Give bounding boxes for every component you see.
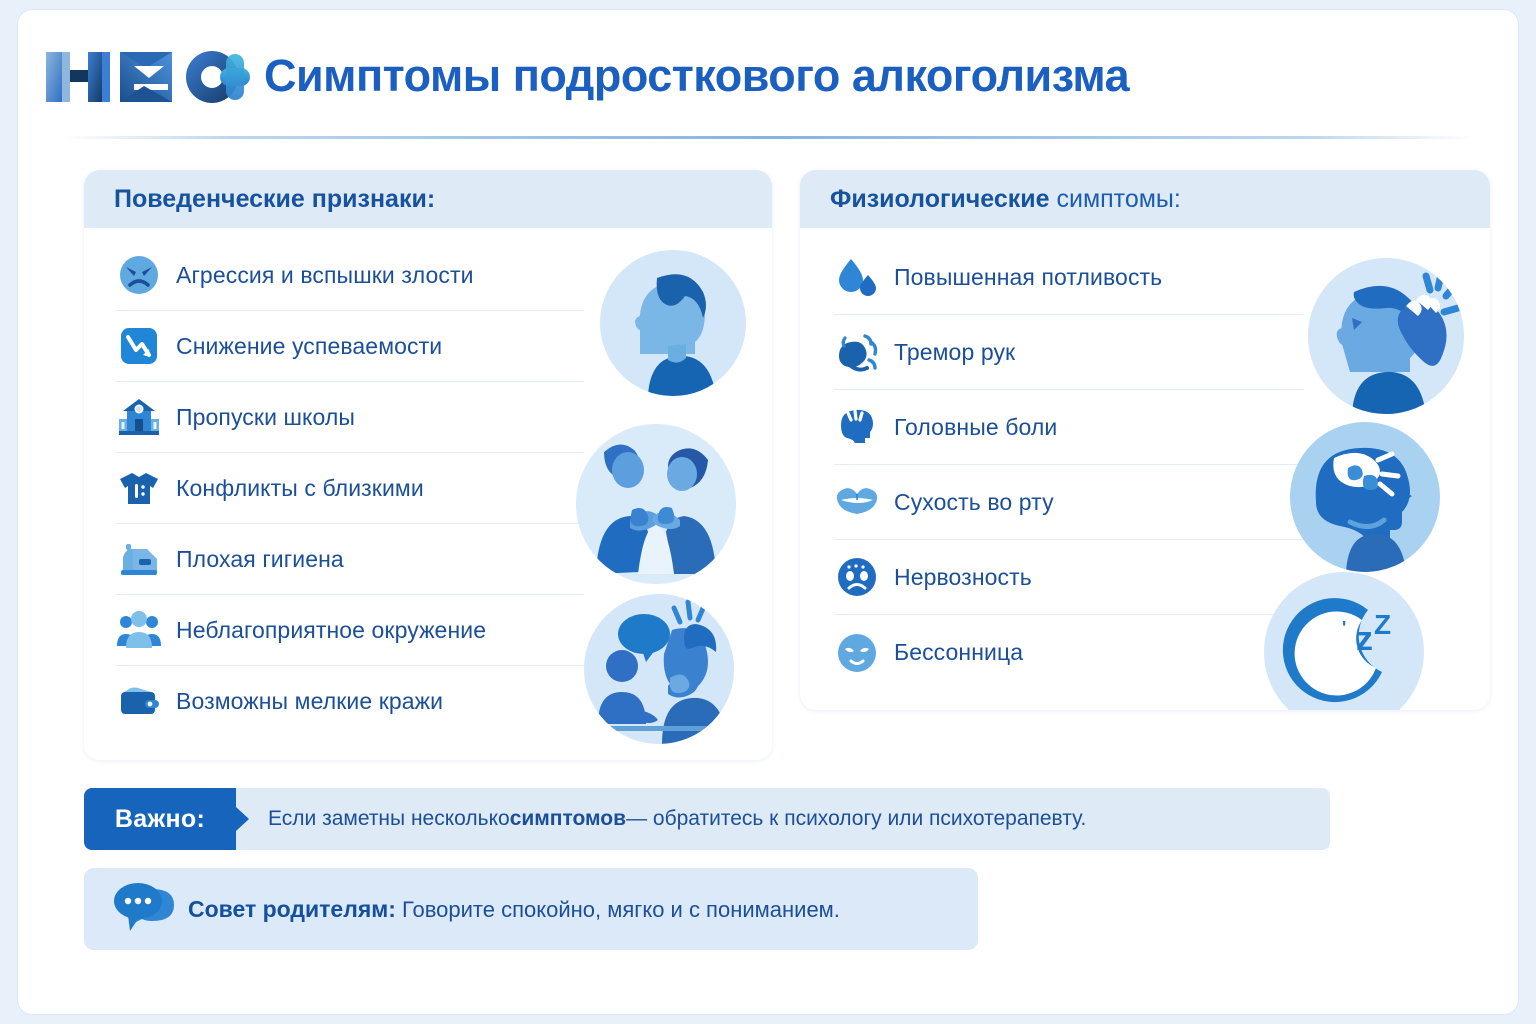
lips-icon <box>834 479 880 525</box>
group-people-icon <box>116 607 162 653</box>
list-item-label: Агрессия и вспышки злости <box>176 262 474 289</box>
list-item[interactable]: Сухость во рту <box>834 465 1304 540</box>
list-item-label: Снижение успеваемости <box>176 333 442 360</box>
list-item-label: Неблагоприятное окружение <box>176 617 486 644</box>
list-item[interactable]: Плохая гигиена <box>116 524 584 595</box>
behavioral-panel-title: Поведенческие признаки: <box>114 185 435 214</box>
list-item-label: Нервозность <box>894 564 1032 591</box>
advice-banner: Совет родителям: Говорите спокойно, мягк… <box>84 868 978 950</box>
family-conflict-illustration <box>576 424 736 584</box>
behavioral-panel: Поведенческие признаки: Агрессия и вспыш… <box>84 170 772 760</box>
tshirt-icon <box>116 465 162 511</box>
list-item[interactable]: Снижение успеваемости <box>116 311 584 382</box>
advice-label: Совет родителям: <box>188 896 396 922</box>
neo-plus-logo <box>44 46 250 108</box>
list-item[interactable]: Неблагоприятное окружение <box>116 595 584 666</box>
list-item-label: Пропуски школы <box>176 404 355 431</box>
list-item-label: Возможны мелкие кражи <box>176 688 443 715</box>
brain-head-illustration <box>1290 422 1440 572</box>
list-item[interactable]: Возможны мелкие кражи <box>116 666 584 737</box>
list-item[interactable]: Конфликты с близкими <box>116 453 584 524</box>
school-building-icon <box>116 394 162 440</box>
list-item-label: Тремор рук <box>894 339 1015 366</box>
page-title: Симптомы подросткового алкоголизма <box>264 48 1129 104</box>
important-text-after: — обратитесь к психологу или психотерапе… <box>626 807 1086 831</box>
list-item-label: Головные боли <box>894 414 1057 441</box>
list-item[interactable]: Повышенная потливость <box>834 240 1304 315</box>
list-item[interactable]: Головные боли <box>834 390 1304 465</box>
wallet-icon <box>116 679 162 725</box>
list-item-label: Повышенная потливость <box>894 264 1162 291</box>
important-badge-label: Важно: <box>115 805 205 834</box>
physiological-list: Повышенная потливость Тремор рук <box>834 240 1304 690</box>
important-banner: Важно: Если заметны несколько симптомов … <box>84 788 1330 850</box>
headache-illustration <box>1308 258 1464 414</box>
infographic-card: Симптомы подросткового алкоголизма Повед… <box>18 10 1518 1014</box>
behavioral-panel-body: Агрессия и вспышки злости Снижение успев… <box>84 228 772 760</box>
sleepless-face-icon <box>834 630 880 676</box>
header: Симптомы подросткового алкоголизма <box>18 10 1518 132</box>
list-item-label: Сухость во рту <box>894 489 1054 516</box>
svg-text:Z: Z <box>1374 609 1391 640</box>
list-item[interactable]: Тремор рук <box>834 315 1304 390</box>
worried-face-icon <box>834 554 880 600</box>
list-item-label: Плохая гигиена <box>176 546 344 573</box>
soap-bottle-icon <box>116 536 162 582</box>
physiological-panel-title: Физиологические симптомы: <box>830 185 1181 214</box>
parent-talk-illustration <box>584 594 734 744</box>
list-item[interactable]: Пропуски школы <box>116 382 584 453</box>
behavioral-panel-title-bold: Поведенческие признаки: <box>114 185 435 213</box>
svg-text:': ' <box>1342 618 1346 638</box>
water-drops-icon <box>834 254 880 300</box>
behavioral-list: Агрессия и вспышки злости Снижение успев… <box>116 240 584 737</box>
list-item[interactable]: Нервозность <box>834 540 1304 615</box>
important-text: Если заметны несколько симптомов — обрат… <box>268 788 1086 850</box>
important-text-bold: симптомов <box>510 807 626 831</box>
physiological-panel-body: Повышенная потливость Тремор рук <box>800 228 1490 710</box>
physiological-panel: Физиологические симптомы: Повышенная пот… <box>800 170 1490 710</box>
behavioral-panel-header: Поведенческие признаки: <box>84 170 772 228</box>
list-item-label: Бессонница <box>894 639 1023 666</box>
advice-body: Говорите спокойно, мягко и с пониманием. <box>396 897 840 922</box>
physiological-panel-title-bold: Физиологические <box>830 185 1050 213</box>
chat-bubbles-icon <box>112 879 178 940</box>
head-pain-icon <box>834 404 880 450</box>
list-item[interactable]: Агрессия и вспышки злости <box>116 240 584 311</box>
title-divider <box>62 136 1476 139</box>
teen-portrait-illustration <box>600 250 746 396</box>
advice-text: Совет родителям: Говорите спокойно, мягк… <box>188 896 840 923</box>
list-item[interactable]: Бессонница <box>834 615 1304 690</box>
important-badge-arrow-icon <box>236 807 249 831</box>
list-item-label: Конфликты с близкими <box>176 475 424 502</box>
important-badge: Важно: <box>84 788 236 850</box>
angry-face-icon <box>116 252 162 298</box>
chart-down-icon <box>116 323 162 369</box>
physiological-panel-title-light: симптомы: <box>1056 185 1180 213</box>
shaking-hand-icon <box>834 329 880 375</box>
physiological-panel-header: Физиологические симптомы: <box>800 170 1490 228</box>
svg-text:z: z <box>1356 620 1373 658</box>
important-text-before: Если заметны несколько <box>268 807 510 831</box>
